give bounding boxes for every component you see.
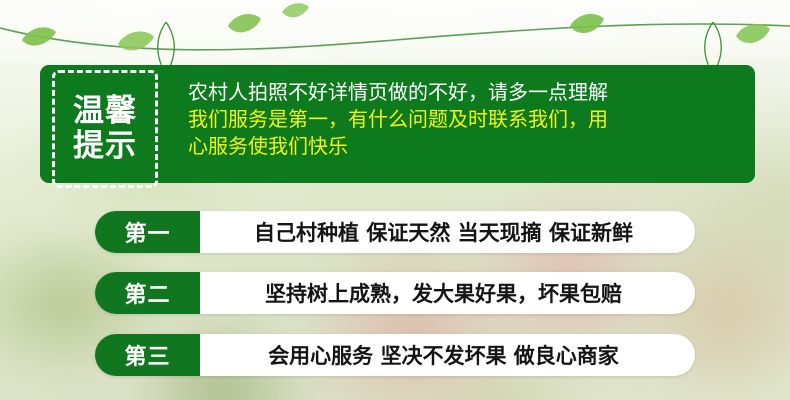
warm-reminder-line-2: 提示 bbox=[73, 130, 137, 163]
leaf-icon bbox=[22, 27, 56, 45]
promise-row-2: 第二 坚持树上成熟，发大果好果，坏果包赔 bbox=[95, 272, 695, 314]
promise-row-3: 第三 会用心服务 坚决不发坏果 做良心商家 bbox=[95, 334, 695, 376]
promo-banner: 温馨 提示 农村人拍照不好详情页做的不好，请多一点理解 我们服务是第一，有什么问… bbox=[0, 0, 790, 400]
promise-badge-3: 第三 bbox=[95, 334, 200, 376]
promise-badge-1: 第一 bbox=[95, 211, 200, 253]
warm-reminder-tag: 温馨 提示 bbox=[52, 70, 158, 188]
notice-line-2: 我们服务是第一，有什么问题及时联系我们，用 bbox=[188, 106, 744, 133]
promise-row-1: 第一 自己村种植 保证天然 当天现摘 保证新鲜 bbox=[95, 211, 695, 253]
promise-text-2: 坚持树上成熟，发大果好果，坏果包赔 bbox=[200, 278, 695, 308]
promise-text-1: 自己村种植 保证天然 当天现摘 保证新鲜 bbox=[200, 217, 695, 247]
notice-line-1: 农村人拍照不好详情页做的不好，请多一点理解 bbox=[188, 79, 744, 106]
leaf-icon bbox=[570, 14, 604, 33]
promise-badge-2: 第二 bbox=[95, 272, 200, 314]
leaf-icon bbox=[228, 14, 261, 32]
promise-text-3: 会用心服务 坚决不发坏果 做良心商家 bbox=[200, 340, 695, 370]
notice-panel: 温馨 提示 农村人拍照不好详情页做的不好，请多一点理解 我们服务是第一，有什么问… bbox=[40, 65, 755, 183]
notice-line-3: 心服务使我们快乐 bbox=[188, 133, 744, 160]
leaf-icon bbox=[282, 3, 309, 17]
leaf-icon bbox=[118, 32, 154, 51]
leaf-icon bbox=[736, 24, 770, 43]
warm-reminder-line-1: 温馨 bbox=[73, 95, 137, 128]
notice-text-block: 农村人拍照不好详情页做的不好，请多一点理解 我们服务是第一，有什么问题及时联系我… bbox=[188, 79, 744, 161]
